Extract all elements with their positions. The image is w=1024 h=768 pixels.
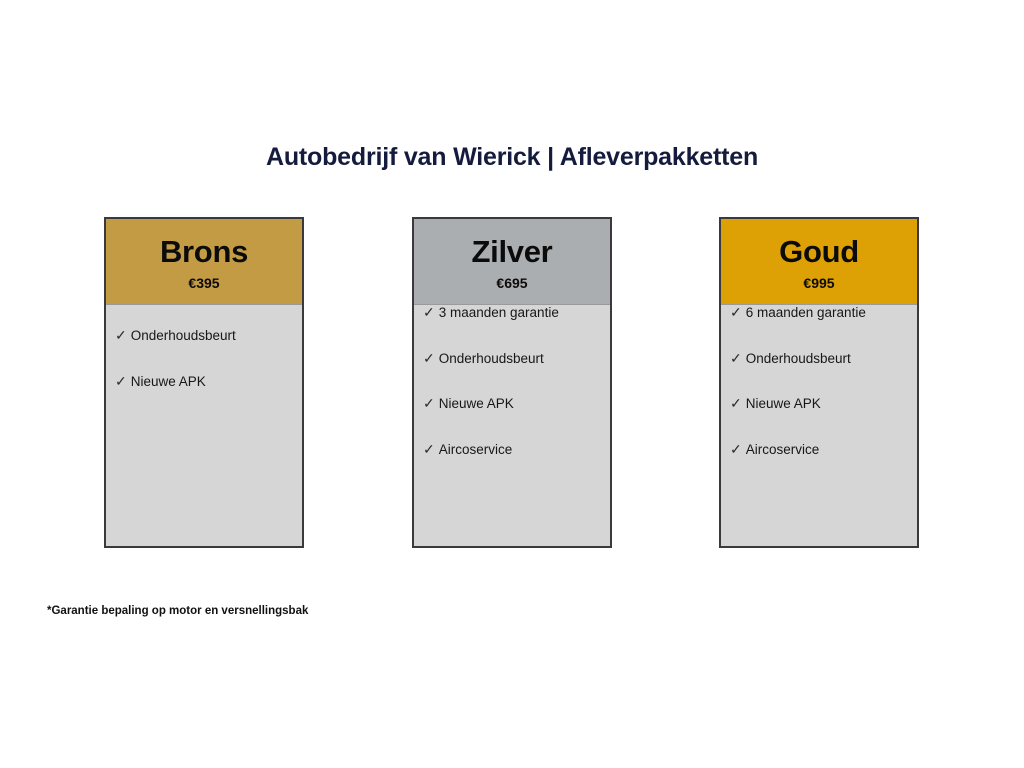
- feature-label: Onderhoudsbeurt: [746, 352, 851, 366]
- feature-label: 3 maanden garantie: [439, 306, 559, 320]
- list-item: ✓ Onderhoudsbeurt: [730, 351, 917, 397]
- pricing-card-zilver[interactable]: Zilver €695 ✓ 3 maanden garantie ✓ Onder…: [412, 217, 612, 548]
- tier-name-goud: Goud: [779, 236, 859, 267]
- card-header-goud: Goud €995: [721, 219, 917, 305]
- card-header-brons: Brons €395: [106, 219, 302, 305]
- list-item: ✓ Nieuwe APK: [730, 396, 917, 442]
- tier-price-zilver: €695: [496, 276, 527, 290]
- tier-price-brons: €395: [188, 276, 219, 290]
- list-item: ✓ 6 maanden garantie: [730, 305, 917, 351]
- card-body-zilver: ✓ 3 maanden garantie ✓ Onderhoudsbeurt ✓…: [414, 305, 610, 546]
- feature-list-zilver: ✓ 3 maanden garantie ✓ Onderhoudsbeurt ✓…: [423, 305, 610, 487]
- tier-name-brons: Brons: [160, 236, 248, 267]
- list-item: ✓ Aircoservice: [730, 442, 917, 488]
- page-title: Autobedrijf van Wierick | Afleverpakkett…: [0, 143, 1024, 172]
- tier-name-zilver: Zilver: [472, 236, 553, 267]
- feature-label: Nieuwe APK: [439, 397, 514, 411]
- check-icon: ✓: [423, 442, 435, 456]
- list-item: ✓ Aircoservice: [423, 442, 610, 488]
- feature-label: Onderhoudsbeurt: [131, 329, 236, 343]
- pricing-card-brons[interactable]: Brons €395 ✓ Onderhoudsbeurt ✓ Nieuwe AP…: [104, 217, 304, 548]
- feature-label: 6 maanden garantie: [746, 306, 866, 320]
- list-item: ✓ Nieuwe APK: [423, 396, 610, 442]
- list-item: ✓ 3 maanden garantie: [423, 305, 610, 351]
- card-body-brons: ✓ Onderhoudsbeurt ✓ Nieuwe APK: [106, 305, 302, 546]
- feature-list-goud: ✓ 6 maanden garantie ✓ Onderhoudsbeurt ✓…: [730, 305, 917, 487]
- check-icon: ✓: [730, 351, 742, 365]
- check-icon: ✓: [423, 305, 435, 319]
- card-header-zilver: Zilver €695: [414, 219, 610, 305]
- check-icon: ✓: [730, 396, 742, 410]
- list-item: ✓ Onderhoudsbeurt: [115, 328, 302, 374]
- feature-label: Aircoservice: [746, 443, 820, 457]
- check-icon: ✓: [730, 305, 742, 319]
- feature-label: Onderhoudsbeurt: [439, 352, 544, 366]
- check-icon: ✓: [730, 442, 742, 456]
- pricing-card-goud[interactable]: Goud €995 ✓ 6 maanden garantie ✓ Onderho…: [719, 217, 919, 548]
- check-icon: ✓: [115, 374, 127, 388]
- list-item: ✓ Nieuwe APK: [115, 374, 302, 420]
- list-item: ✓ Onderhoudsbeurt: [423, 351, 610, 397]
- check-icon: ✓: [423, 351, 435, 365]
- feature-label: Nieuwe APK: [131, 375, 206, 389]
- footnote-text: *Garantie bepaling op motor en versnelli…: [47, 605, 308, 617]
- check-icon: ✓: [423, 396, 435, 410]
- tier-price-goud: €995: [803, 276, 834, 290]
- card-body-goud: ✓ 6 maanden garantie ✓ Onderhoudsbeurt ✓…: [721, 305, 917, 546]
- feature-label: Nieuwe APK: [746, 397, 821, 411]
- check-icon: ✓: [115, 328, 127, 342]
- feature-list-brons: ✓ Onderhoudsbeurt ✓ Nieuwe APK: [115, 328, 302, 419]
- feature-label: Aircoservice: [439, 443, 513, 457]
- pricing-cards-container: Brons €395 ✓ Onderhoudsbeurt ✓ Nieuwe AP…: [0, 217, 1024, 552]
